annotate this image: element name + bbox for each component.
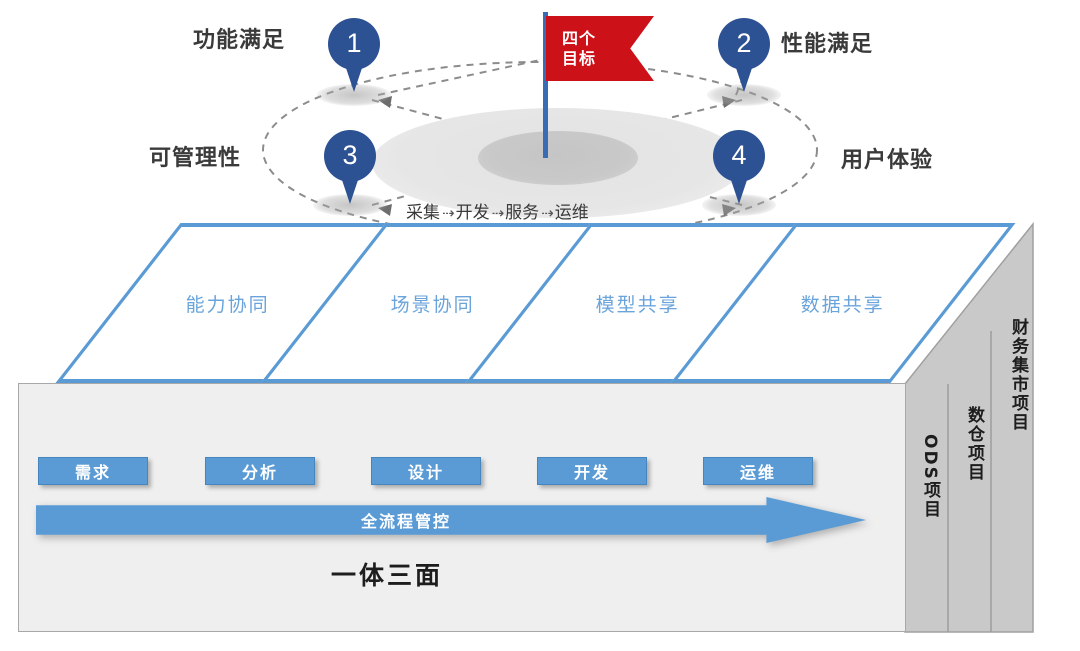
flow-step-1: 开发 — [456, 203, 490, 223]
side-panel-label-ods: ODS项目 — [918, 434, 943, 519]
stage-button-3[interactable]: 开发 — [537, 457, 647, 485]
side-panel-label-dw: 数仓项目 — [962, 406, 987, 482]
side-panel-label-finance: 财务集市项目 — [1006, 318, 1031, 432]
lifecycle-flow: 采集⇢开发⇢服务⇢运维 — [406, 198, 589, 223]
flag-label: 四个 目标 — [562, 29, 596, 69]
diagram-canvas: 四个 目标 1 功能满足 2 性能满足 3 可管理性 4 用户体验 采集⇢开发⇢… — [0, 0, 1080, 651]
pin-number: 3 — [324, 130, 376, 180]
stage-button-2[interactable]: 设计 — [371, 457, 481, 485]
top-cell-label-0: 能力协同 — [186, 290, 270, 317]
flow-arrow-0: ⇢ — [440, 204, 456, 222]
flow-step-2: 服务 — [505, 203, 539, 223]
flow-arrow-2: ⇢ — [539, 204, 555, 222]
marker-pin-4[interactable]: 4 — [713, 130, 765, 206]
top-cell-label-2: 模型共享 — [596, 290, 680, 317]
pin-number: 2 — [718, 18, 770, 68]
goal-label-3: 可管理性 — [149, 140, 241, 172]
flow-arrow-1: ⇢ — [490, 204, 506, 222]
top-cell-label-3: 数据共享 — [801, 290, 885, 317]
process-arrow[interactable]: 全流程管控 — [36, 497, 866, 543]
stage-button-0[interactable]: 需求 — [38, 457, 148, 485]
goal-label-4: 用户体验 — [841, 142, 933, 174]
front-face-title: 一体三面 — [331, 556, 443, 592]
goal-label-1: 功能满足 — [193, 22, 285, 54]
process-arrow-label: 全流程管控 — [361, 508, 451, 532]
flow-step-3: 运维 — [555, 203, 589, 223]
top-cell-label-1: 场景协同 — [391, 290, 475, 317]
flow-step-0: 采集 — [406, 203, 440, 223]
goal-label-2: 性能满足 — [781, 26, 873, 58]
center-disc-inner — [478, 131, 638, 185]
stage-button-4[interactable]: 运维 — [703, 457, 813, 485]
pin-number: 4 — [713, 130, 765, 180]
arrow-shaft — [36, 497, 866, 543]
marker-pin-2[interactable]: 2 — [718, 18, 770, 94]
marker-pin-3[interactable]: 3 — [324, 130, 376, 206]
marker-pin-1[interactable]: 1 — [328, 18, 380, 94]
stage-button-1[interactable]: 分析 — [205, 457, 315, 485]
pin-number: 1 — [328, 18, 380, 68]
